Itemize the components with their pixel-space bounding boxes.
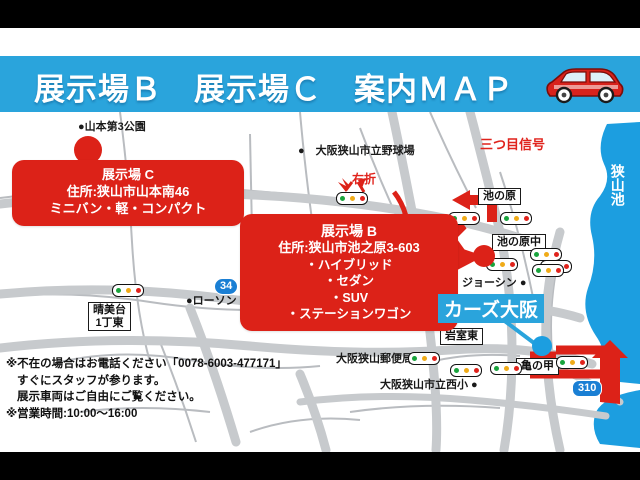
callout-b-line-4: ・SUV: [240, 290, 458, 306]
poi-yamamoto-park: ●山本第3公園: [78, 118, 146, 134]
traffic-signal-11: [556, 356, 588, 369]
callout-b-line-1: 住所:狭山市池之原3-603: [240, 240, 458, 257]
route-shield-310: 310: [572, 380, 602, 397]
callout-b-line-2: ・ハイブリッド: [240, 257, 458, 273]
traffic-signal-8: [408, 352, 440, 365]
header-band: 展示場Ｂ 展示場Ｃ 案内ＭＡＰ: [0, 56, 640, 112]
callout-b-line-0: 展示場 B: [240, 222, 458, 240]
note-line-3: ※営業時間:10:00〜16:00: [6, 406, 287, 423]
footer-note: ※不在の場合はお電話ください「0078-6003-477171」 すぐにスタッフ…: [6, 356, 287, 423]
letterbox-top: [0, 0, 640, 28]
poi-baseball-stadium: ● 大阪狭山市立野球場: [298, 142, 415, 158]
traffic-signal-7: [532, 264, 564, 277]
map-advertisement-screenshot: 展示場Ｂ 展示場Ｃ 案内ＭＡＰ: [0, 0, 640, 480]
traffic-signal-3: [500, 212, 532, 225]
callout-c-line-1: 住所:狭山市山本南46: [12, 184, 244, 201]
annotation-turn-right: 右折: [352, 170, 376, 187]
route-arrow-head-left: [452, 190, 470, 210]
page-title: 展示場Ｂ 展示場Ｃ 案内ＭＡＰ: [34, 64, 514, 109]
callout-cars-osaka[interactable]: カーズ大阪: [438, 294, 544, 323]
red-minivan-icon: [540, 63, 626, 107]
traffic-signal-1: [336, 192, 368, 205]
letterbox-bottom: [0, 452, 640, 480]
note-line-1: すぐにスタッフが参ります。: [6, 373, 287, 390]
poi-nishi-elementary: 大阪狭山市立西小 ●: [380, 376, 478, 392]
callout-c-line-2: ミニバン・軽・コンパクト: [12, 201, 244, 218]
callout-showroom-b[interactable]: 展示場 B 住所:狭山市池之原3-603 ・ハイブリッド ・セダン ・SUV ・…: [240, 214, 458, 331]
callout-b-line-3: ・セダン: [240, 273, 458, 289]
callout-c-line-0: 展示場 C: [12, 167, 244, 184]
note-line-2: 展示車両はご自由にご覧ください。: [6, 389, 287, 406]
intersection-kamenoko: 亀の甲: [516, 358, 559, 375]
annotation-third-signal: 三つ目信号: [480, 134, 545, 153]
route-shield-34: 34: [214, 278, 238, 295]
callout-showroom-c[interactable]: 展示場 C 住所:狭山市山本南46 ミニバン・軽・コンパクト: [12, 160, 244, 226]
traffic-signal-5: [112, 284, 144, 297]
callout-b-line-5: ・ステーションワゴン: [240, 306, 458, 322]
intersection-harumidai: 晴美台1丁東: [88, 302, 131, 331]
note-line-0: ※不在の場合はお電話ください「0078-6003-477171」: [6, 356, 287, 373]
traffic-signal-10: [490, 362, 522, 375]
intersection-ikenohara: 池の原: [478, 188, 521, 205]
traffic-signal-9: [450, 364, 482, 377]
lake-label-sayama-ike: 狭山池: [610, 164, 625, 206]
